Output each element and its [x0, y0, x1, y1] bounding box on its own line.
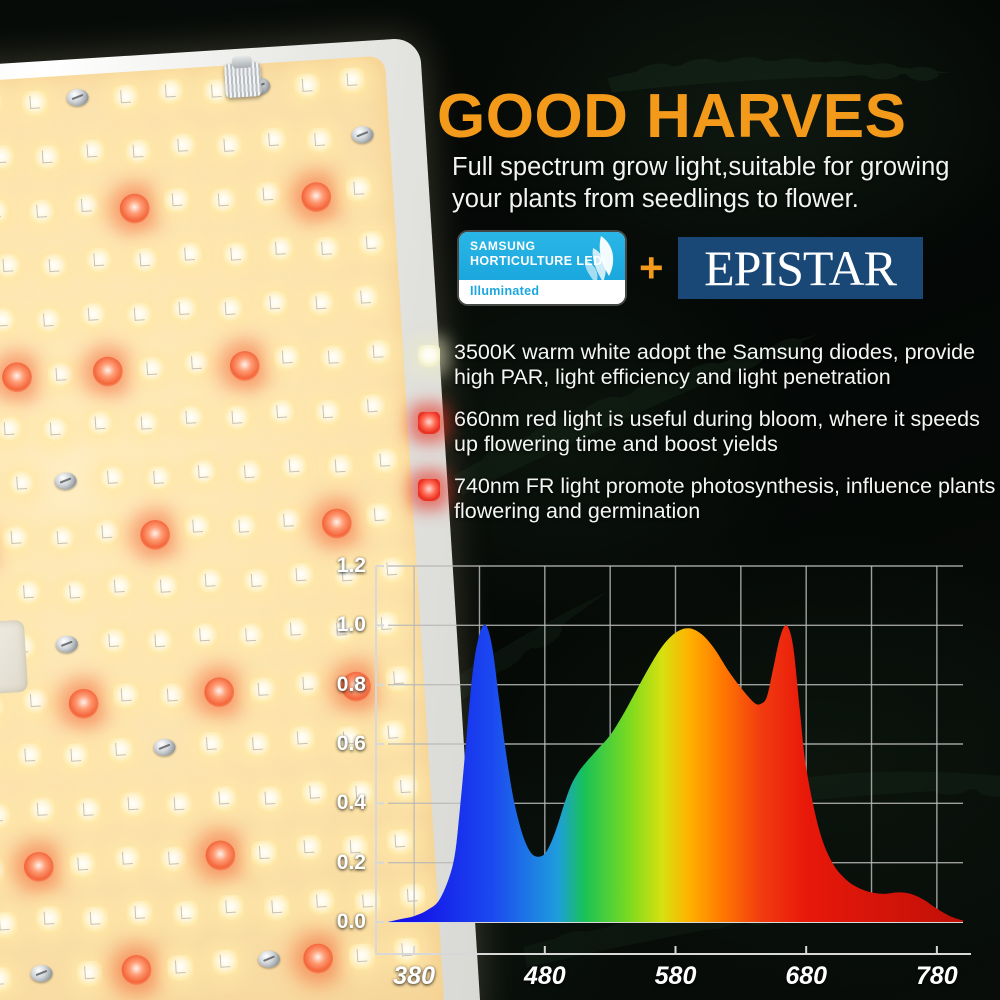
- warm-white-led-diode: [223, 405, 251, 433]
- red-led-diode: [92, 355, 124, 387]
- warm-white-led-diode: [183, 350, 211, 378]
- warm-white-led-diode: [163, 187, 191, 215]
- spectrum-plot: [330, 552, 1000, 1000]
- warm-white-led-diode: [157, 78, 185, 106]
- warm-white-led-diode: [230, 514, 258, 542]
- warm-white-led-diode: [48, 525, 76, 553]
- warm-white-led-diode: [196, 567, 224, 595]
- warm-white-led-diode: [172, 900, 200, 928]
- warm-white-led-diode: [131, 247, 159, 275]
- warm-white-led-diode: [0, 416, 23, 444]
- feature-text: 3500K warm white adopt the Samsung diode…: [454, 340, 996, 390]
- warm-white-led-diode: [216, 296, 244, 324]
- warm-white-led-diode: [165, 791, 193, 819]
- panel-screw-icon: [351, 125, 374, 143]
- epistar-logo: EPISTAR: [678, 237, 923, 299]
- warm-white-led-diode: [137, 356, 165, 384]
- warm-white-led-diode: [47, 361, 75, 389]
- warm-white-led-diode: [215, 132, 243, 160]
- product-marketing-image: GOOD HARVES Full spectrum grow light,sui…: [0, 0, 1000, 1000]
- warm-white-led-diode: [81, 905, 109, 933]
- warm-white-led-diode: [151, 573, 179, 601]
- red-led-diode: [1, 361, 33, 393]
- warm-white-led-diode: [170, 296, 198, 324]
- warm-white-led-diode: [287, 562, 315, 590]
- samsung-badge-header: SAMSUNG HORTICULTURE LED: [459, 232, 625, 280]
- warm-white-led-diode: [40, 253, 68, 281]
- subtitle: Full spectrum grow light,suitable for gr…: [452, 152, 997, 215]
- warm-white-led-diode: [99, 464, 127, 492]
- y-axis-tick-label: 1.0: [312, 613, 366, 637]
- warm-white-led-diode: [314, 399, 342, 427]
- warm-white-led-diode: [254, 181, 282, 209]
- warm-white-led-diode: [21, 90, 49, 118]
- warm-white-led-diode: [312, 235, 340, 263]
- warm-white-led-diode: [0, 802, 11, 830]
- warm-white-led-diode: [114, 846, 142, 874]
- epistar-label: EPISTAR: [704, 243, 896, 293]
- warm-white-led-diode: [210, 785, 238, 813]
- warm-white-led-diode: [190, 459, 218, 487]
- warm-white-led-diode: [275, 508, 303, 536]
- warm-white-led-diode: [0, 90, 3, 118]
- warm-white-led-diode: [184, 514, 212, 542]
- spectrum-area-curve: [388, 625, 963, 922]
- red-led-diode: [139, 519, 171, 551]
- panel-screw-icon: [66, 88, 89, 106]
- panel-screw-icon: [30, 964, 53, 982]
- y-axis-tick-label: 1.2: [312, 554, 366, 578]
- warm-white-led-diode: [261, 290, 289, 318]
- panel-screw-icon: [54, 471, 77, 489]
- warm-white-led-diode: [0, 252, 22, 280]
- red-led-diode: [300, 181, 332, 213]
- red-led-diode: [118, 193, 150, 225]
- warm-white-led-diode: [68, 851, 96, 879]
- warm-white-led-diode: [364, 338, 392, 366]
- warm-white-led-diode: [352, 285, 380, 313]
- warm-white-led-diode: [159, 846, 187, 874]
- list-item: 3500K warm white adopt the Samsung diode…: [418, 340, 996, 390]
- warm-white-led-diode: [267, 235, 295, 263]
- red-led-diode: [205, 840, 237, 872]
- x-axis-tick-label: 780: [894, 962, 980, 991]
- red-led-diode: [228, 350, 260, 382]
- warm-white-led-diode: [0, 307, 16, 335]
- samsung-badge-footer: Illuminated: [459, 280, 625, 304]
- warm-white-led-diode: [16, 743, 44, 771]
- red-led-diode: [203, 676, 235, 708]
- warm-white-led-diode: [100, 628, 128, 656]
- warm-white-led-diode: [274, 344, 302, 372]
- warm-white-led-diode: [263, 894, 291, 922]
- warm-white-led-diode: [0, 144, 15, 172]
- spectrum-chart: 0.00.20.40.60.81.01.2 380480580680780: [330, 552, 1000, 1000]
- warm-white-led-diode: [0, 911, 18, 939]
- warm-white-led-diode: [198, 731, 226, 759]
- warm-white-led-diode: [307, 290, 335, 318]
- warm-white-led-diode: [2, 525, 30, 553]
- warm-white-led-diode: [124, 138, 152, 166]
- warm-white-led-diode: [132, 411, 160, 439]
- x-axis-tick-label: 580: [633, 962, 719, 991]
- warm-white-led-diode: [112, 682, 140, 710]
- warm-white-led-diode: [305, 127, 333, 155]
- warm-white-led-diode: [85, 247, 113, 275]
- warm-white-led-diode: [8, 470, 36, 498]
- x-axis-tick-label: 480: [502, 962, 588, 991]
- warm-white-led-diode: [28, 796, 56, 824]
- warm-white-led-diode: [243, 731, 271, 759]
- warm-white-led-diode: [34, 308, 62, 336]
- red-led-diode: [121, 954, 153, 986]
- warm-white-led-diode: [60, 579, 88, 607]
- warm-white-led-diode: [0, 857, 5, 885]
- panel-side-port: [0, 620, 28, 695]
- warm-white-led-diode: [326, 453, 354, 481]
- red-led-icon: [418, 479, 440, 501]
- chart-tick-marks: [414, 946, 937, 954]
- list-item: 660nm red light is useful during bloom, …: [418, 407, 996, 457]
- warm-white-led-diode: [74, 796, 102, 824]
- warm-white-led-diode: [280, 453, 308, 481]
- warm-white-led-diode: [106, 573, 134, 601]
- warm-white-led-diode: [338, 67, 366, 95]
- warm-white-led-diode: [144, 464, 172, 492]
- warm-white-led-diode: [236, 622, 264, 650]
- list-item: 740nm FR light promote photosynthesis, i…: [418, 474, 996, 524]
- x-axis-tick-label: 680: [763, 962, 849, 991]
- warm-white-led-diode: [176, 241, 204, 269]
- warm-white-led-diode: [359, 393, 387, 421]
- red-led-diode: [320, 508, 352, 540]
- warm-white-led-diode: [211, 949, 239, 977]
- panel-screw-icon: [153, 738, 176, 756]
- red-led-diode: [23, 851, 55, 883]
- warm-white-led-diode: [177, 405, 205, 433]
- warm-white-led-diode: [268, 399, 296, 427]
- warm-white-led-diode: [371, 447, 399, 475]
- warm-white-led-diode: [235, 459, 263, 487]
- brand-logo-row: SAMSUNG HORTICULTURE LED Illuminated + E…: [459, 232, 923, 304]
- warm-white-led-diode: [146, 628, 174, 656]
- plus-icon: +: [639, 247, 664, 289]
- x-axis-tick-label: 380: [371, 962, 457, 991]
- y-axis-tick-label: 0.4: [312, 791, 366, 815]
- warm-white-led-diode: [319, 344, 347, 372]
- warm-white-led-diode: [242, 567, 270, 595]
- warm-white-led-diode: [15, 579, 43, 607]
- warm-white-led-diode: [41, 416, 69, 444]
- warm-white-led-diode: [260, 126, 288, 154]
- warm-white-led-diode: [169, 132, 197, 160]
- feature-text: 660nm red light is useful during bloom, …: [454, 407, 996, 457]
- warm-white-led-diode: [22, 688, 50, 716]
- warm-white-led-diode: [282, 617, 310, 645]
- red-led-icon: [418, 412, 440, 434]
- warm-white-led-diode: [249, 676, 277, 704]
- warm-white-led-diode: [27, 199, 55, 227]
- samsung-brand-label: SAMSUNG: [470, 239, 536, 253]
- warm-white-led-diode: [93, 519, 121, 547]
- warm-white-led-diode: [366, 502, 394, 530]
- warm-white-led-diode: [166, 955, 194, 983]
- y-axis-tick-label: 0.8: [312, 673, 366, 697]
- warm-white-led-diode: [125, 302, 153, 330]
- warm-white-led-diode: [0, 199, 9, 227]
- warm-white-led-diode: [256, 785, 284, 813]
- y-axis-tick-label: 0.2: [312, 851, 366, 875]
- warm-white-led-diode: [78, 138, 106, 166]
- samsung-illuminated-label: Illuminated: [470, 284, 539, 298]
- warm-white-led-diode: [345, 176, 373, 204]
- warm-white-led-diode: [209, 187, 237, 215]
- warm-white-led-diode: [0, 966, 12, 994]
- warm-white-led-diode: [221, 241, 249, 269]
- page-title: GOOD HARVES: [437, 86, 906, 148]
- warm-white-led-diode: [107, 737, 135, 765]
- y-axis-tick-label: 0.6: [312, 732, 366, 756]
- warm-white-led-diode: [293, 73, 321, 101]
- warm-white-led-diode: [0, 693, 4, 721]
- white-led-icon: [418, 345, 440, 367]
- hanger-knob-icon: [224, 62, 262, 98]
- warm-white-led-diode: [79, 302, 107, 330]
- warm-white-led-diode: [250, 840, 278, 868]
- samsung-horticulture-led-badge: SAMSUNG HORTICULTURE LED Illuminated: [459, 232, 625, 304]
- warm-white-led-diode: [111, 84, 139, 112]
- panel-screw-icon: [257, 950, 280, 968]
- warm-white-led-diode: [217, 894, 245, 922]
- warm-white-led-diode: [119, 791, 147, 819]
- warm-white-led-diode: [62, 743, 90, 771]
- warm-white-led-diode: [126, 899, 154, 927]
- feature-text: 740nm FR light promote photosynthesis, i…: [454, 474, 996, 524]
- warm-white-led-diode: [75, 960, 103, 988]
- warm-white-led-diode: [86, 410, 114, 438]
- warm-white-led-diode: [35, 905, 63, 933]
- y-axis-tick-label: 0.0: [312, 910, 366, 934]
- warm-white-led-diode: [33, 144, 61, 172]
- warm-white-led-diode: [73, 193, 101, 221]
- warm-white-led-diode: [357, 230, 385, 258]
- warm-white-led-diode: [158, 682, 186, 710]
- panel-screw-icon: [55, 635, 78, 653]
- red-led-diode: [67, 687, 99, 719]
- warm-white-led-diode: [191, 622, 219, 650]
- feature-list: 3500K warm white adopt the Samsung diode…: [418, 340, 996, 541]
